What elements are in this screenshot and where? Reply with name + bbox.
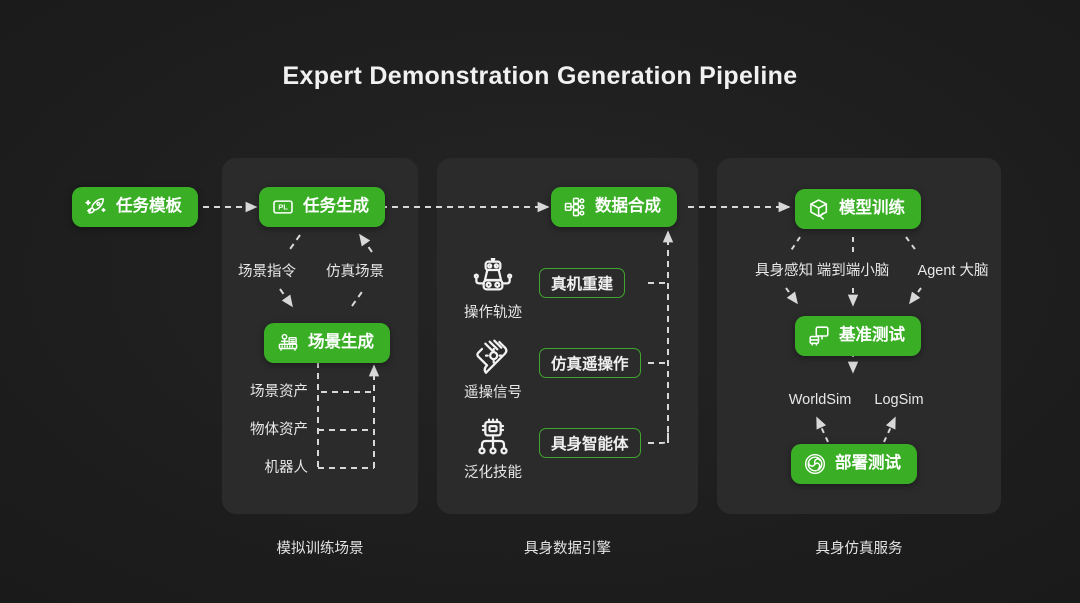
pill-label: 任务生成 <box>303 198 369 216</box>
pill-deployment-test[interactable]: 部署测试 <box>791 444 917 484</box>
glove-icon <box>473 338 513 378</box>
box-real-machine-reconstruction[interactable]: 真机重建 <box>539 268 625 298</box>
pill-data-synthesis[interactable]: 数据合成 <box>551 187 677 227</box>
robot-icon <box>473 258 513 298</box>
label-robot: 机器人 <box>178 461 308 476</box>
pill-benchmark-test[interactable]: 基准测试 <box>795 316 921 356</box>
diagram-canvas: Expert Demonstration Generation Pipeline <box>0 0 1080 603</box>
label-teleop-signal: 遥操信号 <box>443 386 543 401</box>
label-logsim: LogSim <box>855 393 943 408</box>
pill-task-generation[interactable]: PL 任务生成 <box>259 187 385 227</box>
label-scene-instruction: 场景指令 <box>238 265 296 280</box>
label-end-to-end-cerebellum: 端到端小脑 <box>800 264 906 279</box>
pill-label: 模型训练 <box>839 200 905 218</box>
cube-import-icon <box>808 198 830 220</box>
pill-scene-generation[interactable]: 场景生成 <box>264 323 390 363</box>
label-simulated-scene: 仿真场景 <box>326 265 384 280</box>
pill-model-training[interactable]: 模型训练 <box>795 189 921 229</box>
page-title: Expert Demonstration Generation Pipeline <box>0 62 1080 91</box>
box-simulated-teleoperation[interactable]: 仿真遥操作 <box>539 348 641 378</box>
pill-label: 任务模板 <box>116 198 182 216</box>
pill-label: 场景生成 <box>308 334 374 352</box>
pill-label: 数据合成 <box>595 198 661 216</box>
label-object-assets: 物体资产 <box>178 423 308 438</box>
label-agent-brain: Agent 大脑 <box>898 264 1008 279</box>
pill-label: 基准测试 <box>839 327 905 345</box>
box-embodied-agent[interactable]: 具身智能体 <box>539 428 641 458</box>
monitor-bench-icon <box>808 325 830 347</box>
pill-task-template[interactable]: 任务模板 <box>72 187 198 227</box>
label-operation-trajectory: 操作轨迹 <box>443 306 543 321</box>
chip-network-icon <box>473 418 513 458</box>
svg-text:PL: PL <box>278 202 288 211</box>
rocket-icon <box>85 196 107 218</box>
caption-panel-2: 具身数据引擎 <box>437 537 698 558</box>
data-merge-icon <box>564 196 586 218</box>
swirl-circle-icon <box>804 453 826 475</box>
scene-robot-icon <box>277 332 299 354</box>
label-scene-assets: 场景资产 <box>178 385 308 400</box>
pl-badge-icon: PL <box>272 196 294 218</box>
label-generalization-skill: 泛化技能 <box>443 466 543 481</box>
pill-label: 部署测试 <box>835 455 901 473</box>
caption-panel-1: 模拟训练场景 <box>222 537 418 558</box>
caption-panel-3: 具身仿真服务 <box>717 537 1001 558</box>
